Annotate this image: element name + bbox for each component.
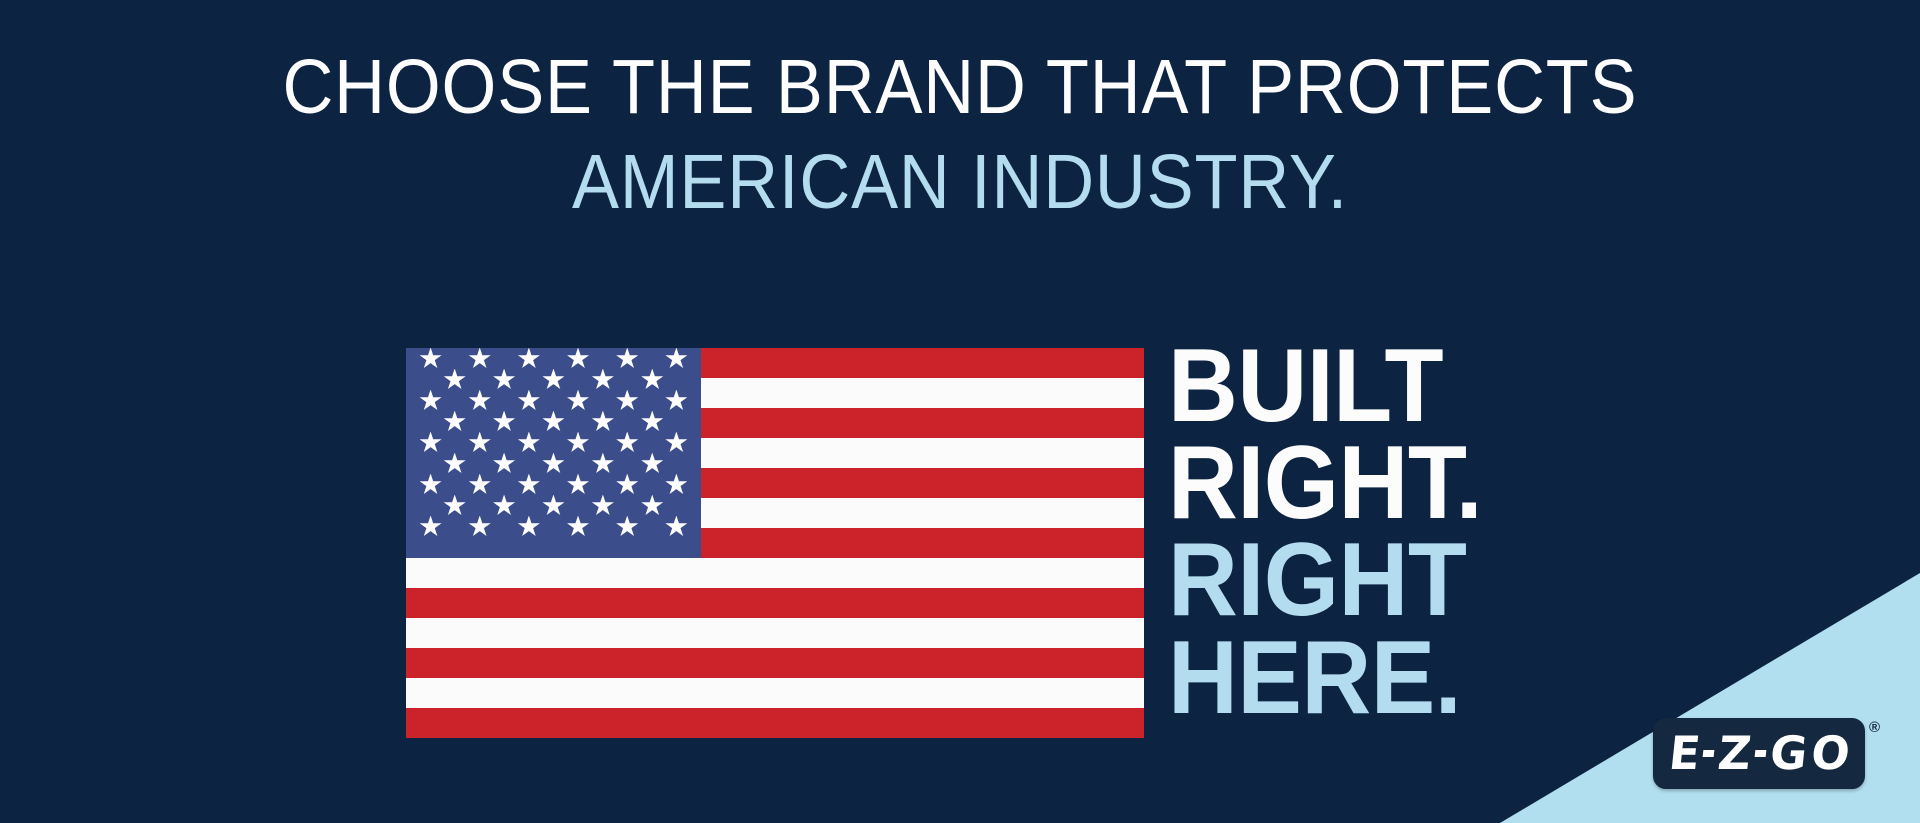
slogan-line-0: BUILT [1168, 338, 1482, 435]
star-icon [493, 453, 515, 475]
star-icon [592, 411, 614, 433]
flag-star-row-4 [406, 432, 701, 453]
star-icon [542, 369, 564, 391]
flag-stripe-8 [406, 588, 1144, 618]
star-icon [420, 348, 442, 370]
star-icon [469, 474, 491, 496]
star-icon [542, 411, 564, 433]
headline-block: CHOOSE THE BRAND THAT PROTECTS AMERICAN … [0, 48, 1920, 221]
headline-line-1: CHOOSE THE BRAND THAT PROTECTS [82, 48, 1839, 127]
ezgo-letter-z: Z [1716, 730, 1753, 776]
star-icon [444, 453, 466, 475]
united-states-flag-icon [406, 348, 1144, 738]
headline-line-2: AMERICAN INDUSTRY. [82, 143, 1839, 222]
star-icon [641, 495, 663, 517]
ezgo-wordmark: E Z G O [1669, 730, 1849, 776]
flag-star-canton [406, 348, 701, 558]
star-icon [420, 516, 442, 538]
flag-stripe-12 [406, 708, 1144, 738]
ezgo-badge: E Z G O [1653, 718, 1865, 789]
star-icon [493, 495, 515, 517]
slogan-line-1: RIGHT. [1168, 435, 1482, 532]
ezgo-letter-e: E [1667, 730, 1702, 776]
star-icon [567, 516, 589, 538]
registered-trademark-icon: ® [1869, 720, 1880, 735]
flag-stripe-9 [406, 618, 1144, 648]
star-icon [518, 390, 540, 412]
flag-stripe-11 [406, 678, 1144, 708]
star-icon [518, 348, 540, 370]
star-icon [444, 495, 466, 517]
star-icon [542, 453, 564, 475]
star-icon [616, 516, 638, 538]
star-icon [420, 474, 442, 496]
flag-star-row-1 [406, 369, 701, 390]
flag-star-row-3 [406, 411, 701, 432]
star-icon [641, 453, 663, 475]
star-icon [469, 516, 491, 538]
star-icon [641, 411, 663, 433]
star-icon [616, 390, 638, 412]
flag-star-row-2 [406, 390, 701, 411]
star-icon [592, 495, 614, 517]
star-icon [665, 390, 687, 412]
star-icon [518, 432, 540, 454]
star-icon [665, 348, 687, 370]
star-icon [567, 390, 589, 412]
star-icon [665, 474, 687, 496]
star-icon [592, 369, 614, 391]
star-icon [616, 432, 638, 454]
slogan-line-3: HERE. [1168, 630, 1482, 727]
star-icon [493, 369, 515, 391]
star-icon [469, 432, 491, 454]
slogan-block: BUILTRIGHT.RIGHTHERE. [1168, 338, 1506, 727]
star-icon [567, 474, 589, 496]
ezgo-letter-o: O [1809, 730, 1851, 776]
star-icon [567, 348, 589, 370]
star-icon [592, 453, 614, 475]
star-icon [444, 369, 466, 391]
star-icon [616, 348, 638, 370]
star-icon [542, 495, 564, 517]
ezgo-hyphen-1 [1703, 750, 1715, 757]
star-icon [420, 432, 442, 454]
star-icon [469, 390, 491, 412]
flag-stripe-7 [406, 558, 1144, 588]
flag-star-row-5 [406, 453, 701, 474]
ezgo-letter-g: G [1768, 730, 1809, 776]
flag-star-row-8 [406, 516, 701, 537]
star-icon [493, 411, 515, 433]
slogan-line-2: RIGHT [1168, 532, 1482, 629]
star-icon [518, 516, 540, 538]
star-icon [518, 474, 540, 496]
star-icon [665, 432, 687, 454]
flag-stripe-10 [406, 648, 1144, 678]
flag-star-row-7 [406, 495, 701, 516]
star-icon [616, 474, 638, 496]
promotional-banner: CHOOSE THE BRAND THAT PROTECTS AMERICAN … [0, 0, 1920, 823]
star-icon [469, 348, 491, 370]
star-icon [567, 432, 589, 454]
star-icon [444, 411, 466, 433]
ezgo-logo[interactable]: E Z G O ® [1653, 718, 1880, 789]
flag-star-row-6 [406, 474, 701, 495]
star-icon [665, 516, 687, 538]
flag-star-row-0 [406, 348, 701, 369]
ezgo-hyphen-2 [1755, 750, 1767, 757]
star-icon [420, 390, 442, 412]
star-icon [641, 369, 663, 391]
